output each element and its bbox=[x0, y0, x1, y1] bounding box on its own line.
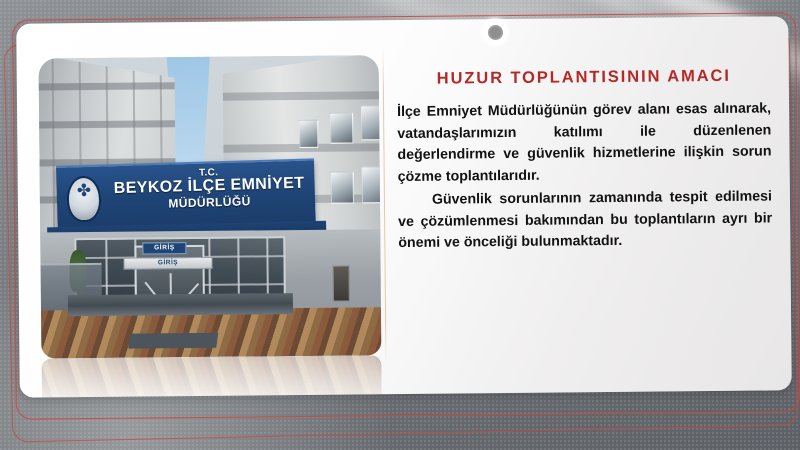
reflection-ground bbox=[41, 355, 381, 397]
photo-reflection bbox=[41, 355, 382, 397]
star-glyph: ✤ bbox=[76, 183, 92, 199]
text-column: HUZUR TOPLANTISININ AMACI İlçe Emniyet M… bbox=[397, 66, 773, 255]
photo-scene: ✤ T.C. BEYKOZ İLÇE EMNİYET MÜDÜRLÜĞÜ bbox=[39, 55, 382, 358]
building-photo: ✤ T.C. BEYKOZ İLÇE EMNİYET MÜDÜRLÜĞÜ bbox=[39, 55, 382, 358]
paragraph-importance: Güvenlik sorunlarının zamanında tespit e… bbox=[398, 187, 773, 255]
entrance-steps bbox=[68, 293, 293, 316]
police-emblem-icon: ✤ bbox=[67, 176, 102, 223]
page-title: HUZUR TOPLANTISININ AMACI bbox=[397, 66, 771, 89]
trash-bin bbox=[333, 266, 350, 302]
ring-inner bbox=[488, 25, 503, 40]
circle-ring-ornament bbox=[481, 18, 509, 46]
slide-canvas: ✤ T.C. BEYKOZ İLÇE EMNİYET MÜDÜRLÜĞÜ bbox=[0, 0, 800, 450]
paragraph-purpose: İlçe Emniyet Müdürlüğünün görev alanı es… bbox=[397, 98, 772, 188]
door-mat bbox=[129, 333, 219, 349]
content-card: ✤ T.C. BEYKOZ İLÇE EMNİYET MÜDÜRLÜĞÜ bbox=[16, 16, 792, 397]
entrance-header-band: GİRİŞ bbox=[124, 256, 213, 269]
entrance-sign: GİRİŞ bbox=[142, 242, 186, 255]
